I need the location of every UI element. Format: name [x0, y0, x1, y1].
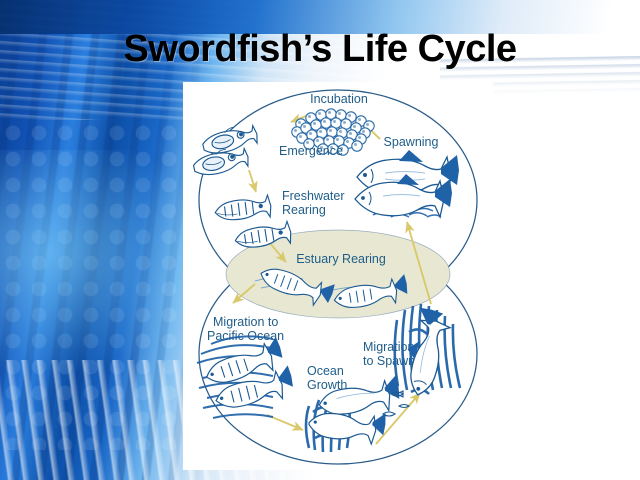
label-freshwater-rearing-line2: Rearing — [282, 203, 326, 217]
label-ocean-growth-line1: Ocean — [307, 364, 344, 378]
label-migration-pacific-line1: Migration to — [213, 315, 278, 329]
label-freshwater-rearing-line1: Freshwater — [282, 189, 345, 203]
label-emergence: Emergence — [279, 144, 343, 158]
background-vertical-stripes — [0, 0, 210, 480]
label-incubation: Incubation — [310, 92, 368, 106]
label-estuary-rearing: Estuary Rearing — [296, 252, 386, 266]
label-spawning: Spawning — [384, 135, 439, 149]
life-cycle-diagram-image: Incubation — [183, 82, 493, 470]
label-migration-spawn-line1: Migration — [363, 340, 414, 354]
presentation-slide: Swordfish’s Life Cycle — [0, 0, 640, 480]
life-cycle-diagram-svg: Incubation — [183, 82, 493, 470]
slide-title: Swordfish’s Life Cycle — [0, 30, 640, 68]
label-migration-spawn-line2: to Spawn — [363, 354, 415, 368]
